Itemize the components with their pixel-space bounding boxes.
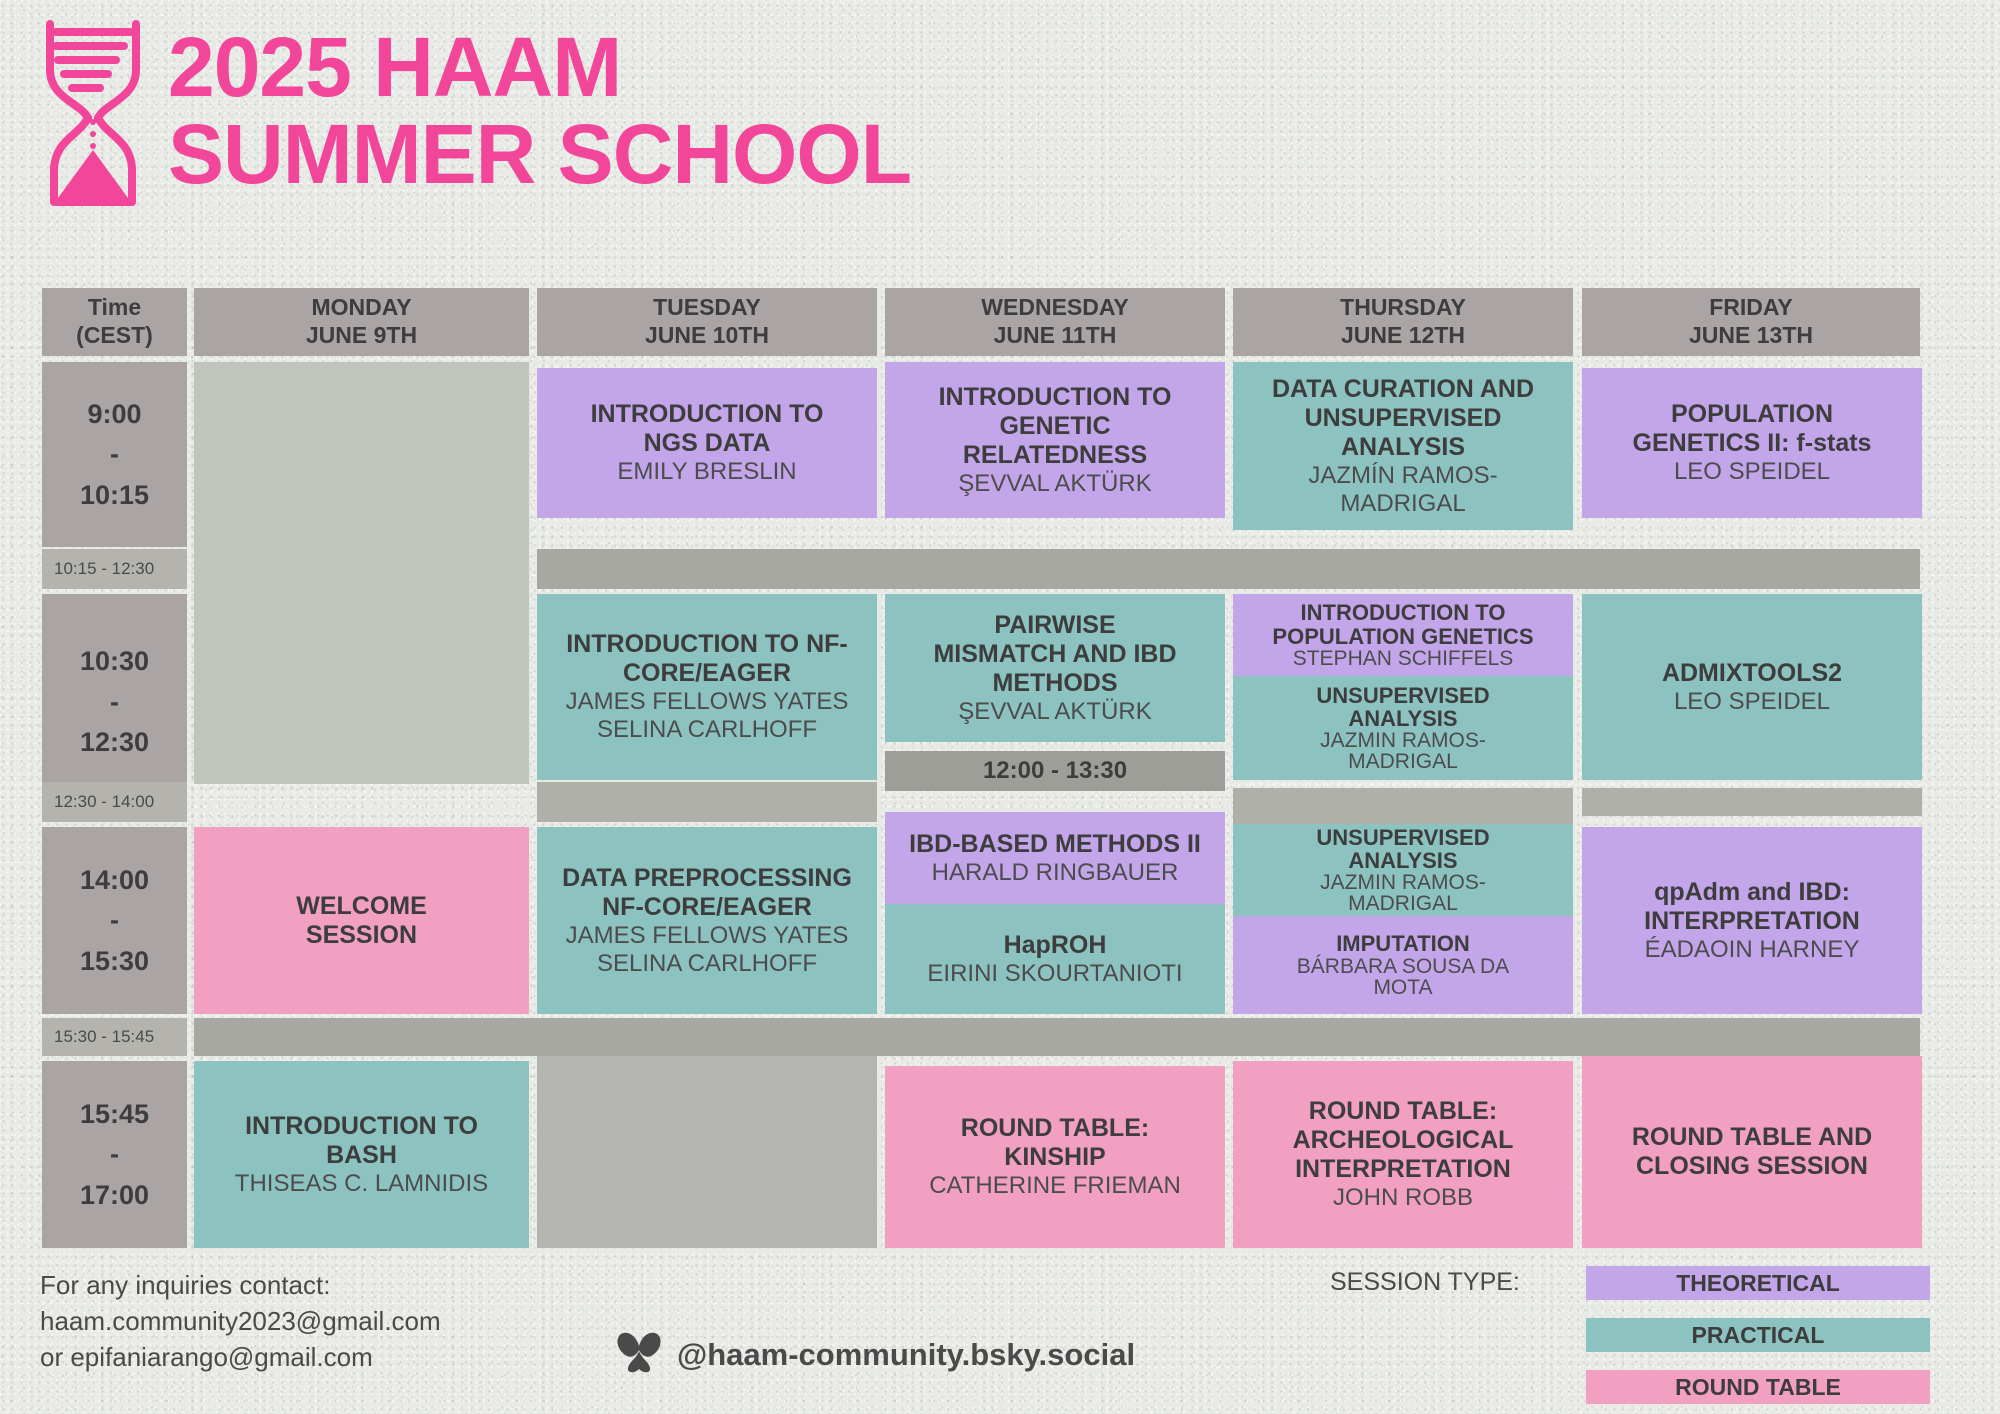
session-presenter: LEO SPEIDEL: [1674, 688, 1830, 716]
session-title: IBD-BASED METHODS II: [909, 830, 1201, 859]
header-friday-day: FRIDAY: [1709, 294, 1793, 322]
session-title: IMPUTATION: [1336, 932, 1470, 955]
session-wednesday-0900[interactable]: INTRODUCTION TO GENETIC RELATEDNESS ŞEVV…: [885, 362, 1225, 518]
cell-monday-0900-empty: [194, 362, 529, 784]
session-thursday-1030-b[interactable]: UNSUPERVISED ANALYSIS JAZMIN RAMOS- MADR…: [1233, 676, 1573, 780]
session-title: UNSUPERVISED ANALYSIS: [1316, 826, 1489, 872]
session-presenter: CATHERINE FRIEMAN: [929, 1172, 1181, 1200]
legend-theoretical: THEORETICAL: [1586, 1266, 1930, 1300]
break-1200-label: 12:00 - 13:30: [885, 751, 1225, 791]
timeslot-1545: 15:45 - 17:00: [42, 1061, 187, 1248]
butterfly-icon: [615, 1330, 663, 1379]
session-tuesday-1400[interactable]: DATA PREPROCESSING NF-CORE/EAGER JAMES F…: [537, 827, 877, 1014]
header-thursday-day: THURSDAY: [1340, 294, 1466, 322]
session-title: ADMIXTOOLS2: [1662, 659, 1842, 688]
header-thursday: THURSDAY JUNE 12TH: [1233, 288, 1573, 356]
header-time: Time (CEST): [42, 288, 187, 356]
haam-logo-icon: [36, 18, 156, 208]
header-tuesday: TUESDAY JUNE 10TH: [537, 288, 877, 356]
break-1015-bar: [537, 549, 1920, 589]
social-handle-block[interactable]: @haam-community.bsky.social: [615, 1330, 1135, 1379]
session-title: INTRODUCTION TO NF- CORE/EAGER: [566, 630, 847, 688]
session-presenter: STEPHAN SCHIFFELS: [1293, 648, 1514, 669]
contact-info: For any inquiries contact: haam.communit…: [40, 1268, 441, 1376]
break-1230-bar-tuesday: [537, 782, 877, 822]
header-monday-day: MONDAY: [311, 294, 411, 322]
session-title: HapROH: [1004, 931, 1107, 960]
header-wednesday-day: WEDNESDAY: [981, 294, 1128, 322]
break-1230-label: 12:30 - 14:00: [42, 782, 187, 822]
session-presenter: LEO SPEIDEL: [1674, 458, 1830, 486]
header-wednesday: WEDNESDAY JUNE 11TH: [885, 288, 1225, 356]
break-1230-bar-friday: [1582, 788, 1922, 816]
session-thursday-0900[interactable]: DATA CURATION AND UNSUPERVISED ANALYSIS …: [1233, 362, 1573, 530]
session-title: INTRODUCTION TO GENETIC RELATEDNESS: [939, 383, 1172, 470]
session-wednesday-1400-a[interactable]: IBD-BASED METHODS II HARALD RINGBAUER: [885, 812, 1225, 904]
session-title: INTRODUCTION TO POPULATION GENETICS: [1272, 601, 1533, 647]
legend-practical: PRACTICAL: [1586, 1318, 1930, 1352]
session-presenter: ŞEVVAL AKTÜRK: [958, 470, 1151, 498]
header-tuesday-date: JUNE 10TH: [645, 322, 769, 350]
session-title: ROUND TABLE AND CLOSING SESSION: [1632, 1123, 1872, 1181]
cell-tuesday-1545-empty: [537, 1056, 877, 1248]
session-tuesday-0900[interactable]: INTRODUCTION TO NGS DATA EMILY BRESLIN: [537, 368, 877, 518]
break-1230-bar-thursday: [1233, 788, 1573, 824]
session-presenter: JAZMIN RAMOS- MADRIGAL: [1320, 872, 1486, 914]
session-title: WELCOME SESSION: [296, 892, 427, 950]
timeslot-0900: 9:00 - 10:15: [42, 362, 187, 547]
session-title: qpAdm and IBD: INTERPRETATION: [1644, 878, 1860, 936]
session-presenter: BÁRBARA SOUSA DA MOTA: [1297, 956, 1509, 998]
session-presenter: EMILY BRESLIN: [617, 458, 796, 486]
session-title: DATA CURATION AND UNSUPERVISED ANALYSIS: [1272, 375, 1534, 462]
session-wednesday-1400-b[interactable]: HapROH EIRINI SKOURTANIOTI: [885, 904, 1225, 1014]
session-friday-1545[interactable]: ROUND TABLE AND CLOSING SESSION: [1582, 1056, 1922, 1248]
session-monday-1545[interactable]: INTRODUCTION TO BASH THISEAS C. LAMNIDIS: [194, 1061, 529, 1248]
header-monday-date: JUNE 9TH: [306, 322, 417, 350]
session-wednesday-1030[interactable]: PAIRWISE MISMATCH AND IBD METHODS ŞEVVAL…: [885, 594, 1225, 742]
session-presenter: JOHN ROBB: [1333, 1184, 1473, 1212]
session-tuesday-1030[interactable]: INTRODUCTION TO NF- CORE/EAGER JAMES FEL…: [537, 594, 877, 780]
break-1530-bar: [194, 1018, 1920, 1056]
timeslot-1030: 10:30 - 12:30: [42, 594, 187, 810]
session-thursday-1545[interactable]: ROUND TABLE: ARCHEOLOGICAL INTERPRETATIO…: [1233, 1061, 1573, 1248]
timeslot-1400: 14:00 - 15:30: [42, 827, 187, 1014]
session-presenter: JAMES FELLOWS YATES SELINA CARLHOFF: [566, 688, 849, 744]
session-title: POPULATION GENETICS II: f-stats: [1633, 400, 1872, 458]
session-title: PAIRWISE MISMATCH AND IBD METHODS: [933, 611, 1176, 698]
header-tuesday-day: TUESDAY: [653, 294, 761, 322]
session-title: UNSUPERVISED ANALYSIS: [1316, 684, 1489, 730]
session-title: INTRODUCTION TO BASH: [245, 1112, 478, 1170]
session-monday-1400[interactable]: WELCOME SESSION: [194, 827, 529, 1014]
legend-round-table: ROUND TABLE: [1586, 1370, 1930, 1404]
session-title: ROUND TABLE: ARCHEOLOGICAL INTERPRETATIO…: [1293, 1097, 1514, 1184]
session-presenter: JAMES FELLOWS YATES SELINA CARLHOFF: [566, 922, 849, 978]
session-wednesday-1545[interactable]: ROUND TABLE: KINSHIP CATHERINE FRIEMAN: [885, 1066, 1225, 1248]
session-friday-1030[interactable]: ADMIXTOOLS2 LEO SPEIDEL: [1582, 594, 1922, 780]
session-presenter: ŞEVVAL AKTÜRK: [958, 698, 1151, 726]
session-title: INTRODUCTION TO NGS DATA: [591, 400, 824, 458]
session-presenter: EIRINI SKOURTANIOTI: [927, 960, 1182, 988]
session-friday-0900[interactable]: POPULATION GENETICS II: f-stats LEO SPEI…: [1582, 368, 1922, 518]
session-friday-1400[interactable]: qpAdm and IBD: INTERPRETATION ÉADAOIN HA…: [1582, 827, 1922, 1014]
header-friday-date: JUNE 13TH: [1689, 322, 1813, 350]
session-title: DATA PREPROCESSING NF-CORE/EAGER: [562, 864, 852, 922]
session-thursday-1030-a[interactable]: INTRODUCTION TO POPULATION GENETICS STEP…: [1233, 594, 1573, 676]
session-presenter: THISEAS C. LAMNIDIS: [235, 1170, 488, 1198]
session-presenter: HARALD RINGBAUER: [932, 859, 1179, 887]
page-title: 2025 HAAM SUMMER SCHOOL: [168, 24, 911, 199]
session-presenter: JAZMIN RAMOS- MADRIGAL: [1320, 730, 1486, 772]
break-1015-label: 10:15 - 12:30: [42, 549, 187, 589]
header-friday: FRIDAY JUNE 13TH: [1582, 288, 1920, 356]
session-presenter: ÉADAOIN HARNEY: [1645, 936, 1860, 964]
break-1530-label: 15:30 - 15:45: [42, 1018, 187, 1056]
header-thursday-date: JUNE 12TH: [1341, 322, 1465, 350]
session-presenter: JAZMÍN RAMOS- MADRIGAL: [1308, 462, 1497, 518]
legend-label: SESSION TYPE:: [1330, 1268, 1520, 1297]
header-wednesday-date: JUNE 11TH: [994, 322, 1117, 350]
header-monday: MONDAY JUNE 9TH: [194, 288, 529, 356]
session-title: ROUND TABLE: KINSHIP: [961, 1114, 1149, 1172]
session-thursday-1400-a[interactable]: UNSUPERVISED ANALYSIS JAZMIN RAMOS- MADR…: [1233, 824, 1573, 916]
session-thursday-1400-b[interactable]: IMPUTATION BÁRBARA SOUSA DA MOTA: [1233, 916, 1573, 1014]
bsky-handle: @haam-community.bsky.social: [677, 1337, 1135, 1373]
